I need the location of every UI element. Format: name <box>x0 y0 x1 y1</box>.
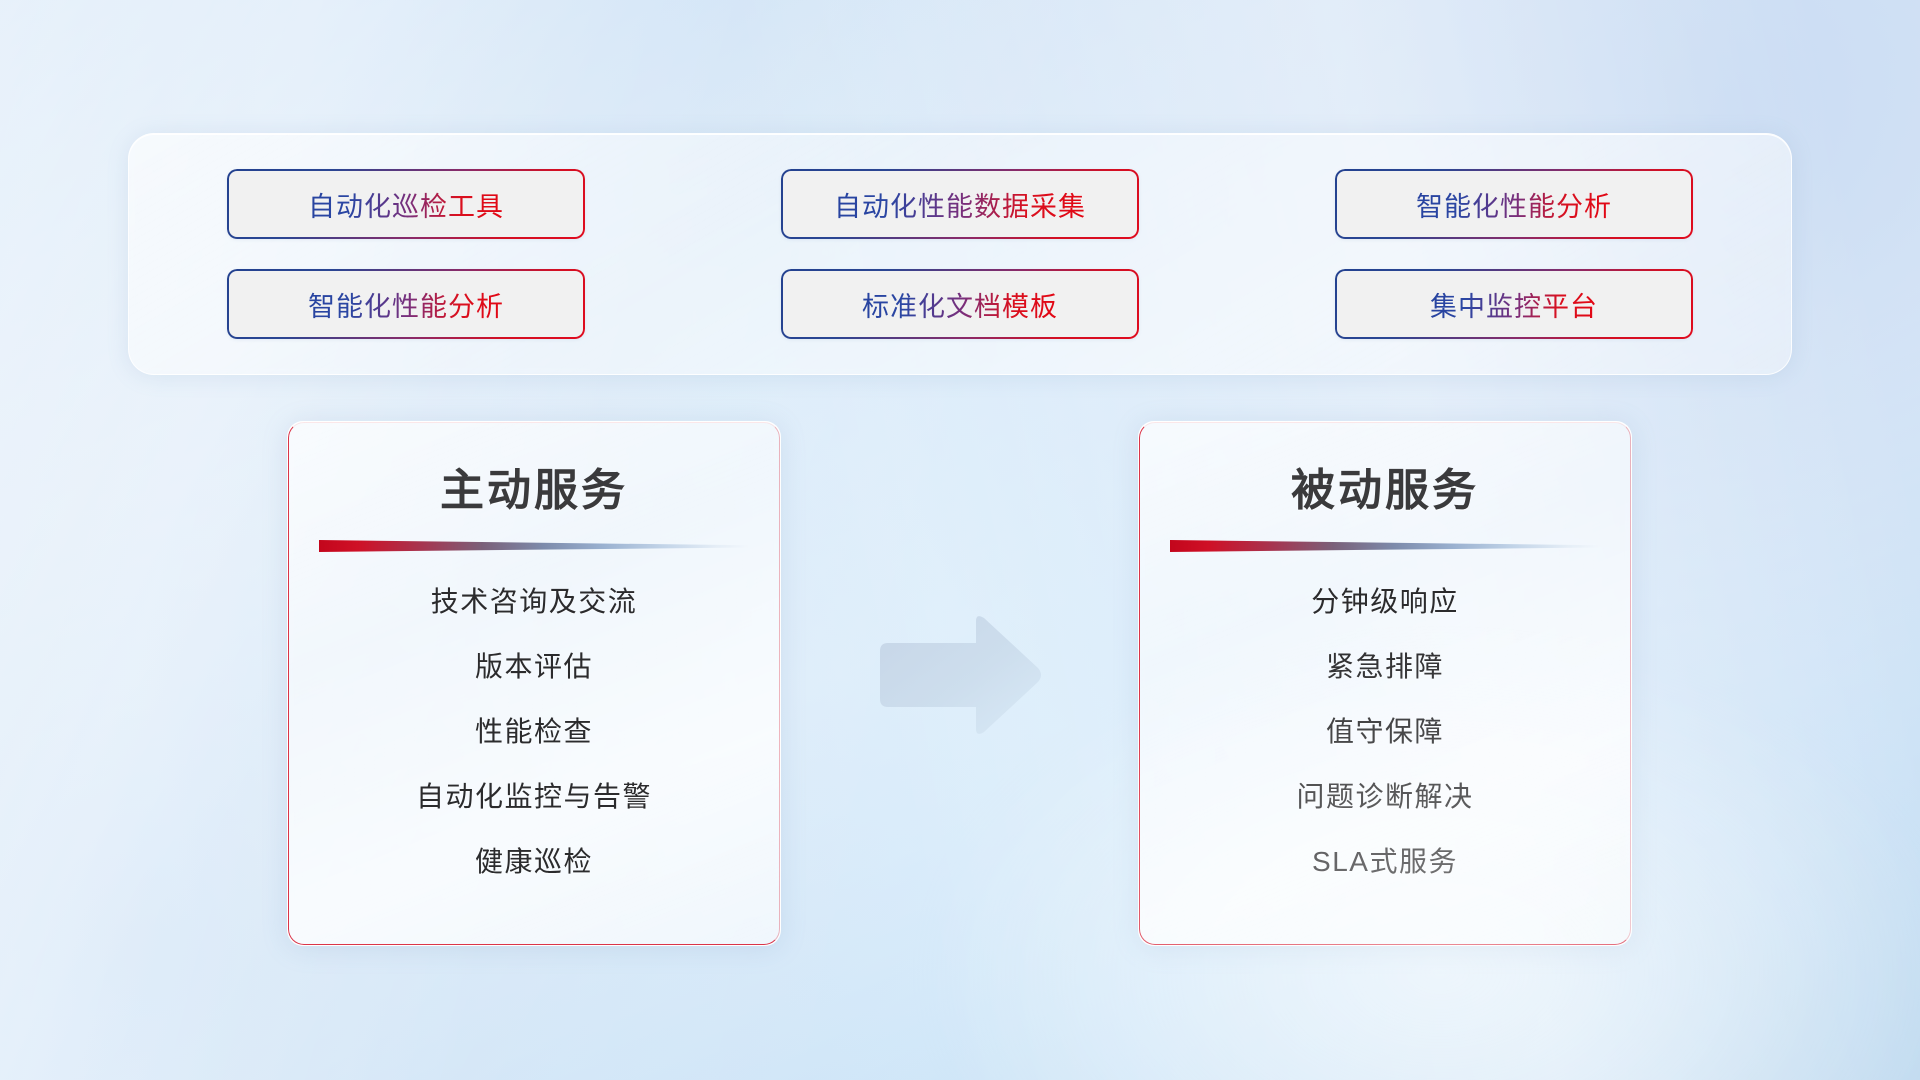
capability-pill-label: 集中监控平台 <box>1430 285 1598 324</box>
capability-pill-label: 自动化性能数据采集 <box>834 185 1086 224</box>
list-item: 分钟级响应 <box>1311 580 1459 620</box>
list-item: 技术咨询及交流 <box>431 580 638 620</box>
arrow-right-glyph <box>872 613 1044 737</box>
card-divider <box>1170 540 1600 554</box>
card-title: 被动服务 <box>1139 454 1631 518</box>
capability-pill-label: 自动化巡检工具 <box>308 185 504 224</box>
card-title: 主动服务 <box>288 454 780 518</box>
card-divider-bar <box>1170 540 1600 552</box>
slide-canvas: 自动化巡检工具 自动化性能数据采集 智能化性能分析 智能化性能分析 标准化文档模… <box>0 0 1920 1080</box>
list-item: 紧急排障 <box>1326 645 1444 685</box>
capabilities-row-2: 智能化性能分析 标准化文档模板 集中监控平台 <box>129 269 1791 339</box>
list-item: 值守保障 <box>1326 710 1444 750</box>
list-item: 健康巡检 <box>475 840 593 880</box>
capability-pill[interactable]: 自动化巡检工具 <box>227 169 585 239</box>
list-item: 问题诊断解决 <box>1296 775 1473 815</box>
card-divider <box>319 540 749 554</box>
capability-pill-label: 标准化文档模板 <box>862 285 1058 324</box>
service-card-proactive: 主动服务 技术咨询及交流 版本评估 性能检查 自动化监控与告警 健康巡检 <box>287 421 781 946</box>
list-item: 版本评估 <box>475 645 593 685</box>
card-divider-bar <box>319 540 749 552</box>
capability-pill[interactable]: 智能化性能分析 <box>1335 169 1693 239</box>
list-item: 性能检查 <box>475 710 593 750</box>
capability-pill[interactable]: 集中监控平台 <box>1335 269 1693 339</box>
capability-pill[interactable]: 智能化性能分析 <box>227 269 585 339</box>
capability-pill[interactable]: 标准化文档模板 <box>781 269 1139 339</box>
service-card-reactive: 被动服务 分钟级响应 紧急排障 值守保障 问题诊断解决 SLA式服务 <box>1138 421 1632 946</box>
service-list: 分钟级响应 紧急排障 值守保障 问题诊断解决 SLA式服务 <box>1139 580 1631 880</box>
list-item: SLA式服务 <box>1312 840 1458 880</box>
capability-pill[interactable]: 自动化性能数据采集 <box>781 169 1139 239</box>
capability-pill-label: 智能化性能分析 <box>308 285 504 324</box>
capabilities-panel: 自动化巡检工具 自动化性能数据采集 智能化性能分析 智能化性能分析 标准化文档模… <box>128 133 1792 375</box>
capability-pill-label: 智能化性能分析 <box>1416 185 1612 224</box>
service-list: 技术咨询及交流 版本评估 性能检查 自动化监控与告警 健康巡检 <box>288 580 780 880</box>
list-item: 自动化监控与告警 <box>416 775 652 815</box>
capabilities-row-1: 自动化巡检工具 自动化性能数据采集 智能化性能分析 <box>129 169 1791 239</box>
arrow-right-icon <box>872 613 1044 737</box>
